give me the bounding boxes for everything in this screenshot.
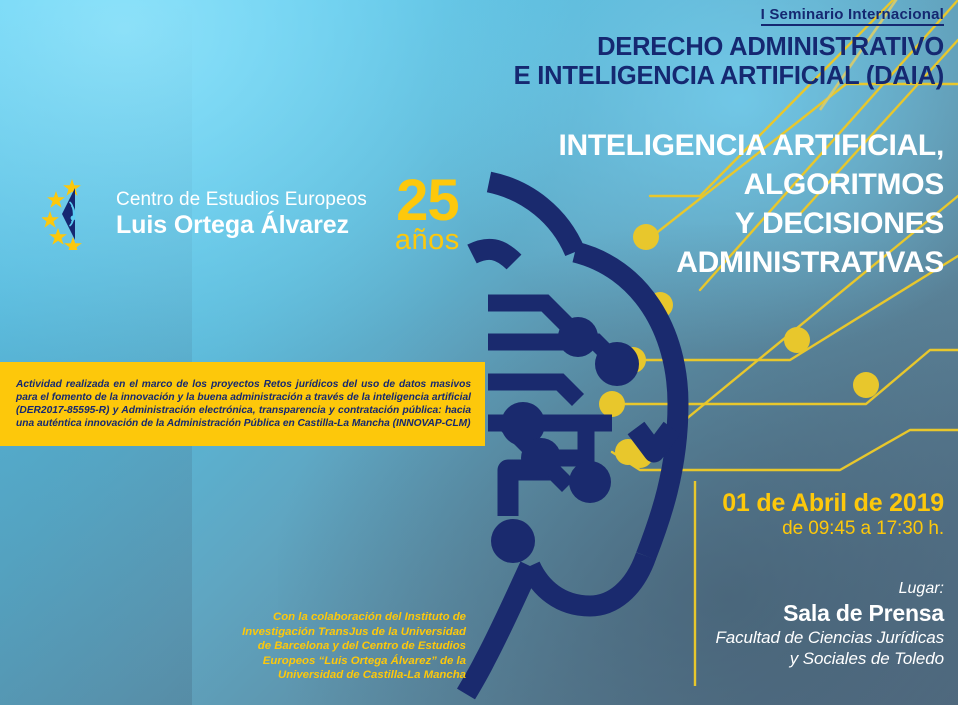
main-title-block: INTELIGENCIA ARTIFICIAL, ALGORITMOS Y DE… <box>558 126 944 282</box>
venue-sub-line-2: y Sociales de Toledo <box>715 648 944 669</box>
venue-name: Sala de Prensa <box>715 599 944 627</box>
main-title-line-1: INTELIGENCIA ARTIFICIAL, <box>558 126 944 165</box>
main-title-line-2: ALGORITMOS <box>558 165 944 204</box>
header-block: I Seminario Internacional DERECHO ADMINI… <box>514 6 944 91</box>
seminar-kicker: I Seminario Internacional <box>761 6 944 26</box>
collaboration-line-2: Investigación TransJus de la Universidad <box>190 625 466 640</box>
project-funding-box: Actividad realizada en el marco de los p… <box>0 362 485 446</box>
collaboration-note: Con la colaboración del Instituto de Inv… <box>190 610 466 683</box>
anniversary-badge: 25 años <box>395 172 460 255</box>
seminar-title: DERECHO ADMINISTRATIVO E INTELIGENCIA AR… <box>514 33 944 91</box>
main-title-line-4: ADMINISTRATIVAS <box>558 243 944 282</box>
collaboration-line-5: Universidad de Castilla-La Mancha <box>190 668 466 683</box>
project-funding-text: Actividad realizada en el marco de los p… <box>0 378 485 431</box>
venue-label: Lugar: <box>715 578 944 599</box>
anniversary-word: años <box>395 226 460 255</box>
collaboration-line-4: Europeos “Luis Ortega Álvarez” de la <box>190 654 466 669</box>
poster-canvas: I Seminario Internacional DERECHO ADMINI… <box>0 0 958 705</box>
eu-stars-logo-icon <box>42 178 104 250</box>
collaboration-line-1: Con la colaboración del Instituto de <box>190 610 466 625</box>
seminar-title-line-1: DERECHO ADMINISTRATIVO <box>514 33 944 62</box>
event-date: 01 de Abril de 2019 <box>722 489 944 517</box>
seminar-title-line-2: E INTELIGENCIA ARTIFICIAL (DAIA) <box>514 62 944 91</box>
organization-name-line-2: Luis Ortega Álvarez <box>116 211 367 240</box>
organization-logo-block: Centro de Estudios Europeos Luis Ortega … <box>42 172 460 255</box>
organization-name-line-1: Centro de Estudios Europeos <box>116 188 367 211</box>
main-title-line-3: Y DECISIONES <box>558 204 944 243</box>
collaboration-line-3: de Barcelona y del Centro de Estudios <box>190 639 466 654</box>
organization-name: Centro de Estudios Europeos Luis Ortega … <box>116 188 367 240</box>
event-venue-block: Lugar: Sala de Prensa Facultad de Cienci… <box>715 578 944 669</box>
event-date-block: 01 de Abril de 2019 de 09:45 a 17:30 h. <box>722 489 944 541</box>
event-time: de 09:45 a 17:30 h. <box>722 517 944 541</box>
left-tint-panel <box>0 0 192 705</box>
anniversary-number: 25 <box>395 172 460 230</box>
venue-sub-line-1: Facultad de Ciencias Jurídicas <box>715 627 944 648</box>
